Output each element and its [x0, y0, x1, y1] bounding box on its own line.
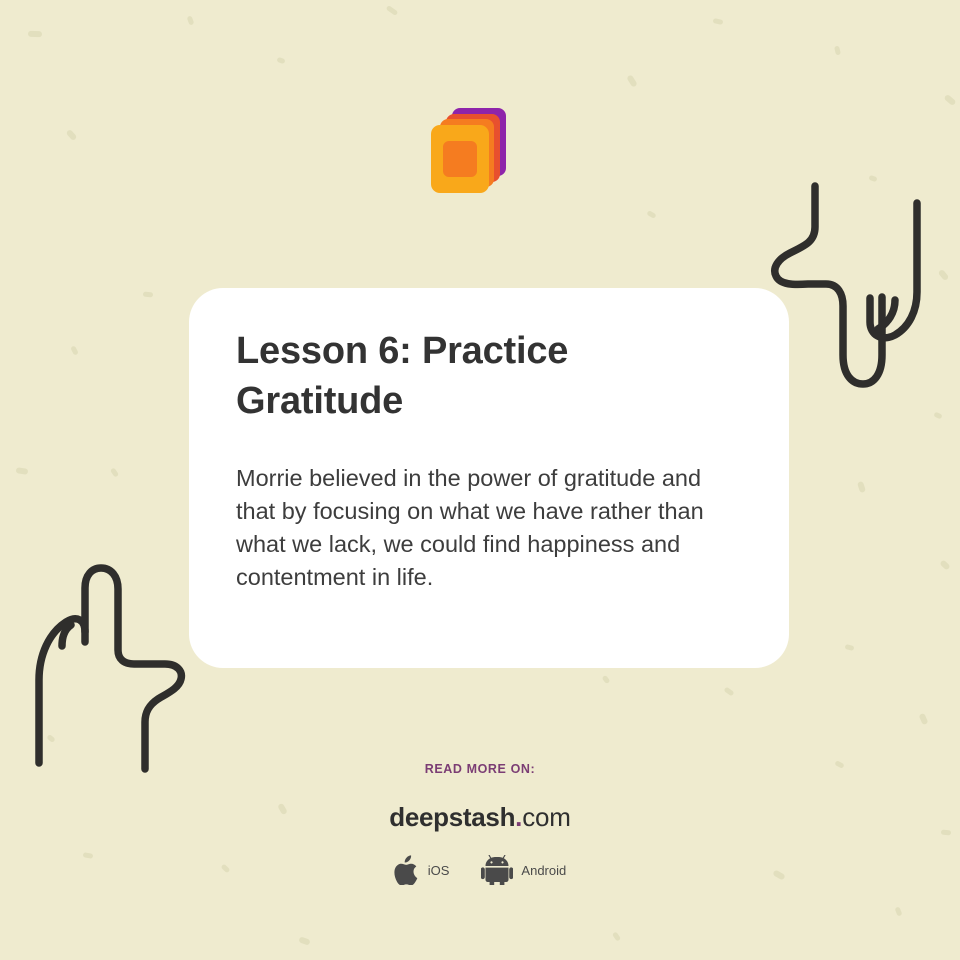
android-icon — [481, 855, 513, 885]
speckle — [276, 57, 285, 64]
apple-icon — [394, 855, 420, 885]
speckle — [943, 94, 956, 106]
speckle — [626, 74, 637, 87]
speckle — [386, 5, 399, 16]
ios-label: iOS — [428, 863, 450, 878]
speckle — [612, 931, 621, 941]
deepstash-logo — [430, 106, 516, 194]
app-store-badges: iOS Android — [0, 855, 960, 885]
speckle — [868, 175, 877, 182]
speckle — [46, 734, 55, 743]
speckle — [938, 269, 950, 281]
speckle — [143, 292, 153, 298]
speckle — [834, 46, 841, 56]
speckle — [939, 559, 950, 570]
speckle — [933, 412, 942, 420]
ios-store-link[interactable]: iOS — [394, 855, 450, 885]
speckle — [602, 675, 611, 684]
speckle — [70, 345, 79, 355]
footer: READ MORE ON: deepstash.com iOS — [0, 762, 960, 885]
read-more-label: READ MORE ON: — [0, 762, 960, 776]
speckle — [713, 18, 724, 25]
speckle — [857, 481, 866, 493]
speckle — [28, 31, 42, 37]
speckle — [646, 210, 656, 219]
speckle — [894, 906, 902, 916]
android-label: Android — [521, 863, 566, 878]
speckle — [723, 687, 734, 697]
brand-name: deepstash — [389, 802, 515, 832]
speckle — [187, 15, 195, 25]
poster-canvas: Lesson 6: Practice Gratitude Morrie beli… — [0, 0, 960, 960]
speckle — [66, 129, 78, 141]
speckle — [298, 936, 310, 945]
card-body-text: Morrie believed in the power of gratitud… — [236, 462, 743, 594]
brand-wordmark[interactable]: deepstash.com — [0, 802, 960, 833]
hand-pointing-up-icon — [22, 560, 212, 780]
speckle — [845, 644, 855, 651]
speckle — [919, 713, 929, 725]
idea-card: Lesson 6: Practice Gratitude Morrie beli… — [189, 288, 789, 668]
card-title: Lesson 6: Practice Gratitude — [236, 326, 626, 426]
speckle — [110, 467, 119, 477]
speckle — [16, 467, 29, 475]
brand-tld: com — [522, 802, 571, 832]
android-store-link[interactable]: Android — [481, 855, 566, 885]
